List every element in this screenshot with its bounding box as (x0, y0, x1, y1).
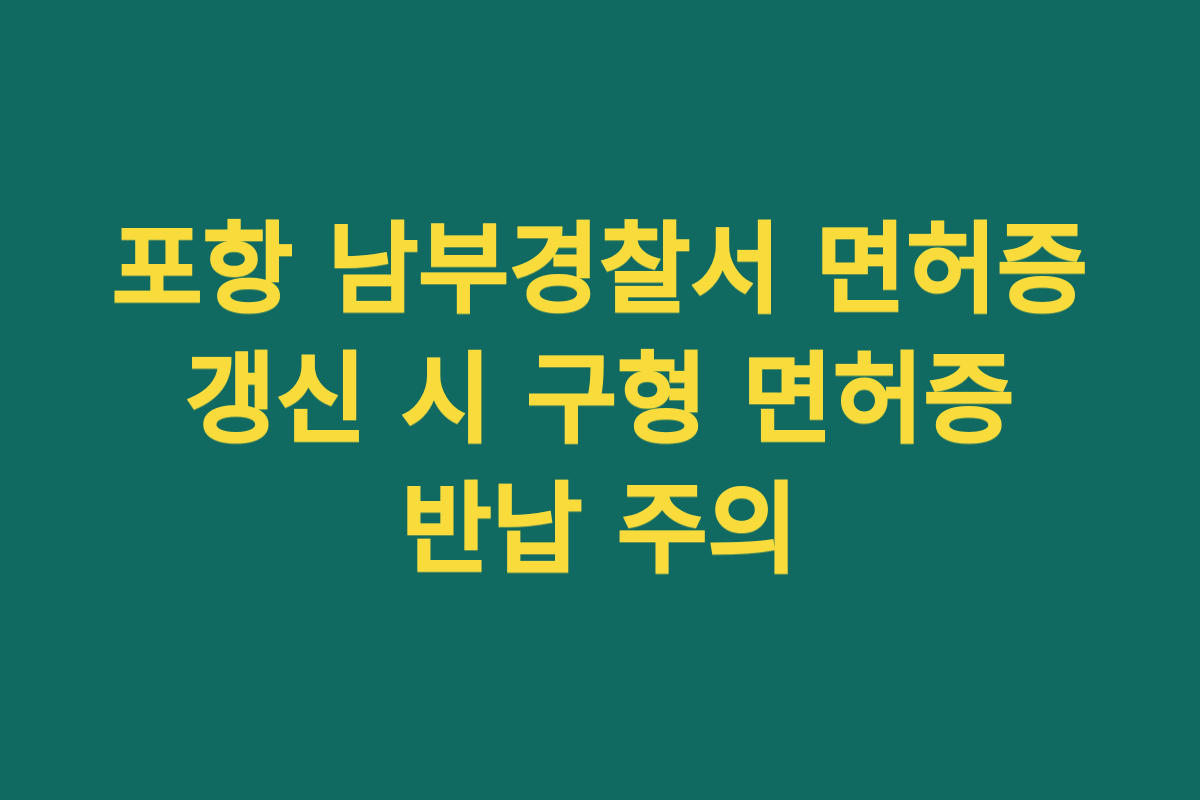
page-title: 포항 남부경찰서 면허증 갱신 시 구형 면허증 반납 주의 (85, 205, 1115, 595)
poster-canvas: 포항 남부경찰서 면허증 갱신 시 구형 면허증 반납 주의 (0, 0, 1200, 800)
headline-block: 포항 남부경찰서 면허증 갱신 시 구형 면허증 반납 주의 (85, 205, 1115, 595)
